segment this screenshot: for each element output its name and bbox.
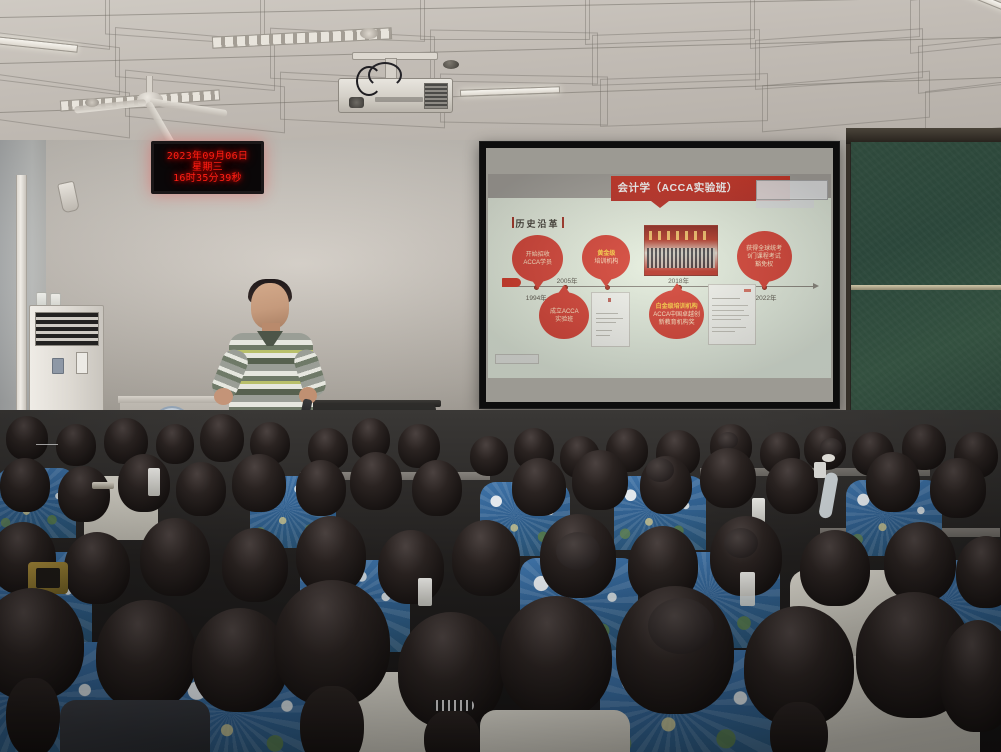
hair-claw-clip-inner [36, 568, 60, 588]
water-bottle [418, 578, 432, 606]
hair-bun [646, 458, 674, 482]
hair-clip [92, 482, 114, 489]
projection-screen: 会计学（ACCA实验班） 历史沿革 1994年 2005年 2014年 2018… [479, 141, 840, 409]
photo-crowd [647, 248, 714, 268]
milestone-2018-line-3: 新教育机构奖 [659, 319, 695, 327]
audience-head [452, 520, 520, 596]
audience-head [412, 460, 462, 516]
slide-section-heading: 历史沿革 [515, 217, 559, 230]
wall-pipe [16, 175, 27, 430]
projector-cable-2 [368, 62, 402, 88]
chalk-rail [851, 285, 1001, 290]
ac-control-panel[interactable] [52, 358, 64, 374]
student-uniform [480, 710, 630, 752]
slide-popup-dialog[interactable] [756, 180, 828, 200]
audience-head [572, 450, 628, 510]
audience-head [700, 448, 756, 508]
audience-head [930, 458, 986, 518]
presenter-left-hand [214, 388, 233, 405]
phone [814, 462, 826, 478]
milestone-2022-line-2: 9门课程考试 [747, 253, 780, 261]
audience-head [866, 452, 920, 512]
audience-head [222, 528, 288, 602]
ponytail [770, 702, 828, 752]
audience-head [500, 596, 612, 718]
audience-head [118, 454, 170, 512]
photo-banner [649, 231, 712, 240]
led-clock-display: 2023年09月06日 星期三 16时35分39秒 [151, 141, 264, 194]
ac-badge [76, 352, 88, 374]
timeline-start-tag [502, 278, 521, 287]
lecture-hall-photo: 2023年09月06日 星期三 16时35分39秒 会计学（ACCA实验班） [0, 0, 1001, 752]
milestone-2022-line-1: 获得全球统考 [746, 245, 782, 253]
hair-bun [648, 598, 714, 654]
slide-popup-row[interactable] [756, 200, 814, 208]
slide-group-photo [644, 225, 718, 276]
audience-head [378, 530, 444, 604]
projector-lens-icon [349, 97, 364, 108]
hair-bun [724, 528, 758, 558]
timeline-year-2005: 2005年 [557, 275, 578, 285]
audience-head [56, 424, 96, 466]
milestone-2018-line-2: ACCA中国卓越创 [653, 311, 700, 319]
slide-article-doc [708, 284, 756, 345]
ponytail [424, 710, 480, 752]
article-tag [744, 289, 750, 292]
audience-head [192, 608, 288, 712]
water-bottle [148, 468, 160, 496]
heading-bar-left [512, 217, 514, 228]
audience-head [232, 454, 286, 512]
milestone-2005-line-2: 实验班 [555, 316, 573, 324]
ac-grille [35, 312, 99, 346]
audience-head [176, 462, 226, 516]
audience-head [140, 518, 210, 596]
audience-head [0, 458, 50, 512]
beaded-hair-tie [432, 700, 474, 711]
hair-bun [556, 532, 600, 570]
milestone-2014-line-2: 培训机构 [594, 258, 618, 266]
milestone-balloon-2022: 获得全球统考 9门课程考试 豁免权 [737, 231, 792, 282]
hair-bun [718, 432, 738, 449]
ceiling-mount-2 [360, 28, 378, 39]
audience-head [296, 460, 346, 516]
eyeglasses [36, 444, 58, 446]
raised-arm [818, 472, 839, 520]
audience-head [884, 522, 956, 602]
audience-head [64, 532, 130, 604]
water-bottle [740, 572, 755, 606]
heading-bar-right [562, 217, 564, 228]
ponytail [6, 678, 60, 752]
milestone-1994-line-2: ACCA学员 [523, 259, 552, 267]
audience-head [58, 466, 110, 522]
audience-head [6, 416, 48, 460]
milestone-2014-line-1: 黄金级 [597, 250, 615, 258]
milestone-balloon-2014: 黄金级 培训机构 [582, 235, 630, 280]
smoke-detector-icon [443, 60, 459, 69]
audience-head [766, 458, 818, 514]
hair-bun [820, 438, 842, 456]
certificate-seal [608, 298, 612, 303]
projector-vent [424, 83, 448, 109]
milestone-2018-line-1: 白金级培训机构 [656, 303, 698, 311]
ceiling [0, 0, 1001, 145]
audience-area [0, 410, 1001, 752]
led-clock-time: 16时35分39秒 [173, 174, 242, 184]
audience-head [200, 414, 244, 462]
audience-head [512, 458, 566, 516]
led-clock-weekday: 星期三 [192, 163, 223, 173]
hair-tie [822, 454, 835, 462]
audience-head [800, 530, 870, 606]
audience-head [156, 424, 194, 464]
audience-head [470, 436, 508, 476]
milestone-2022-line-3: 豁免权 [755, 261, 773, 269]
ceiling-mount [85, 98, 99, 107]
milestone-balloon-2005: 成立ACCA 实验班 [539, 292, 589, 339]
audience-head [350, 452, 402, 510]
timeline-year-2022: 2022年 [756, 292, 777, 302]
milestone-1994-line-1: 开始招收 [526, 251, 550, 259]
led-clock-date: 2023年09月06日 [167, 152, 248, 162]
presentation-slide: 会计学（ACCA实验班） 历史沿革 1994年 2005年 2014年 2018… [488, 174, 831, 378]
slide-corner-badge [495, 354, 540, 364]
student-uniform [60, 700, 210, 752]
audience-head [956, 536, 1001, 608]
milestone-balloon-2018: 白金级培训机构 ACCA中国卓越创 新教育机构奖 [649, 290, 704, 339]
slide-certificate-doc [591, 292, 630, 347]
audience-head [96, 600, 196, 710]
ponytail [300, 686, 364, 752]
milestone-2005-line-1: 成立ACCA [550, 308, 579, 316]
